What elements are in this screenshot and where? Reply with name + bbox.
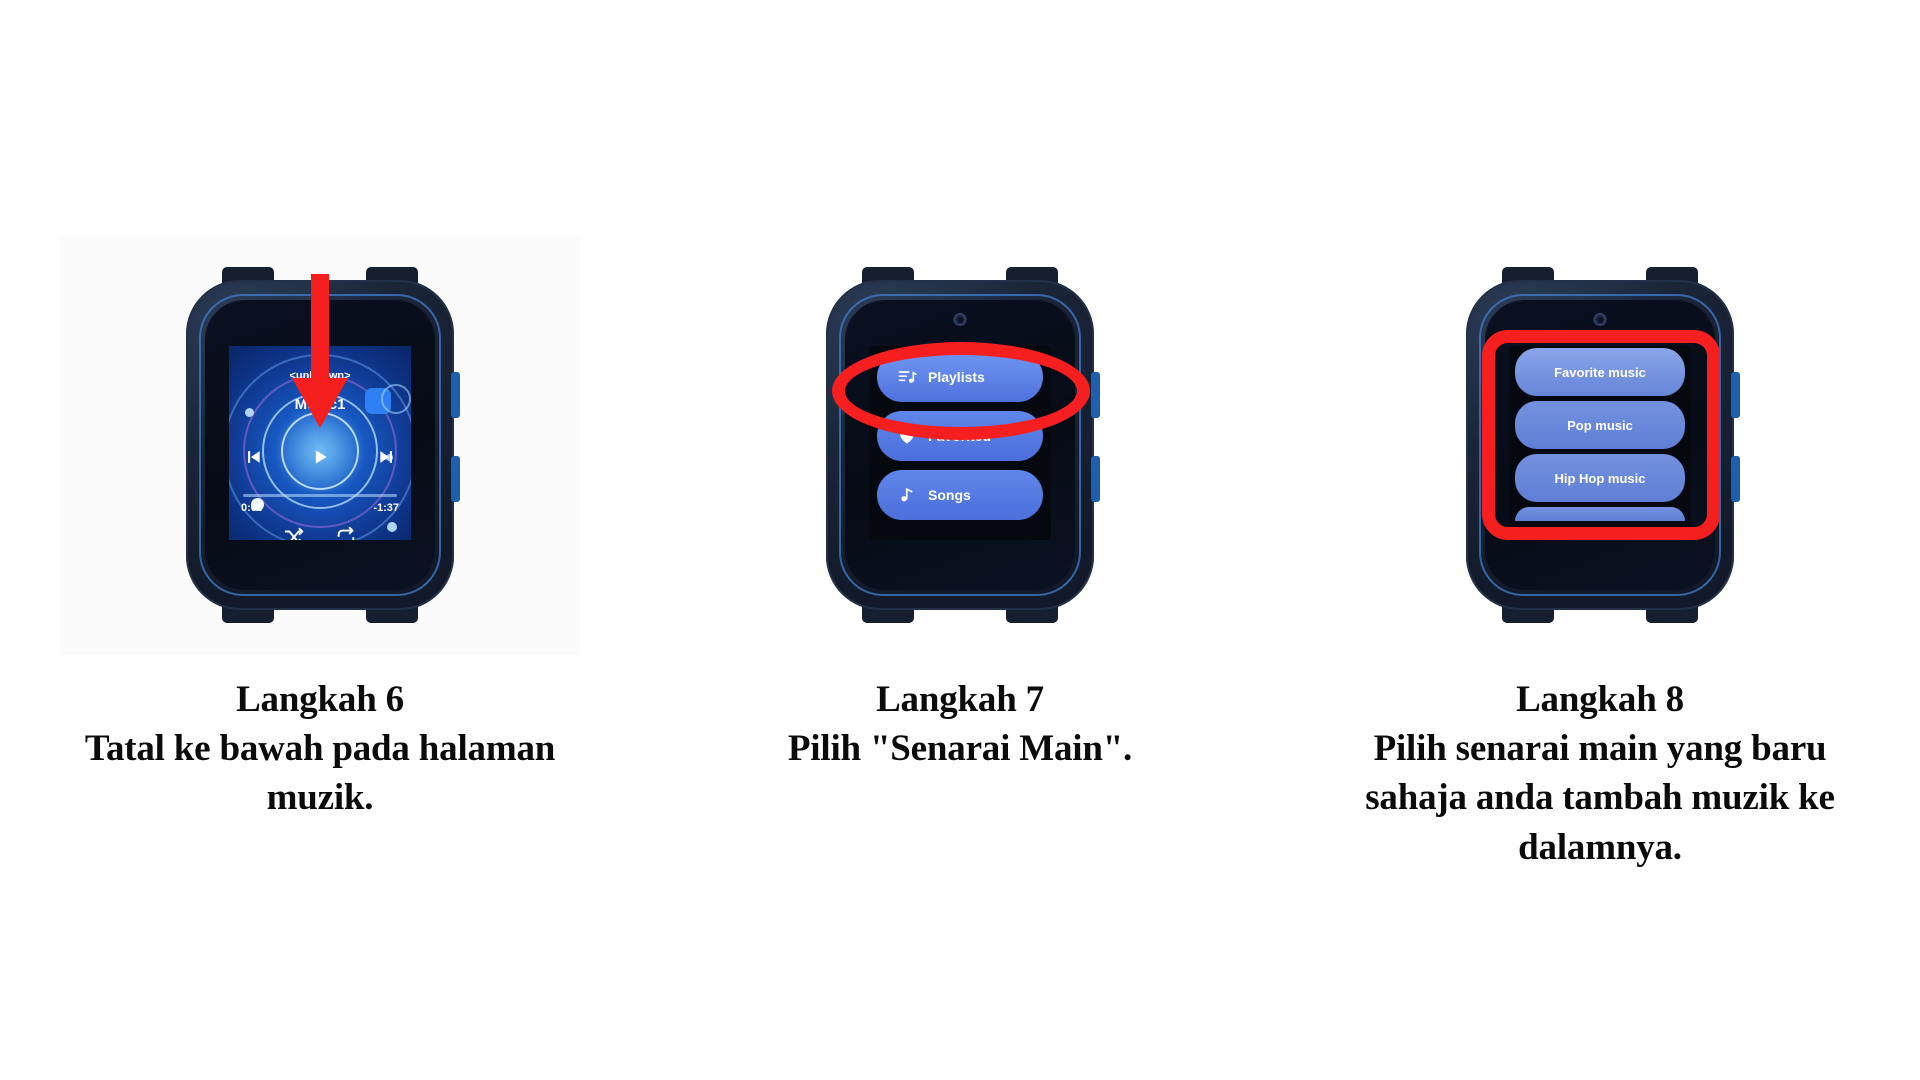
step-card-6: 2 <unknown> Music1 [0,0,640,823]
heart-icon [897,426,917,446]
step-caption-8: Langkah 8 Pilih senarai main yang baru s… [1365,675,1835,872]
remaining-time: -1:37 [373,502,399,514]
scroll-down-arrow-icon [288,274,352,432]
playlist-music-icon [897,367,917,387]
menu-item-playlists[interactable]: Playlists [877,352,1043,402]
playlist-item-favorite-music[interactable]: Favorite music [1515,348,1685,396]
watch-glass: Playlists Favorited [845,300,1075,590]
step-card-7: Playlists Favorited [640,0,1280,773]
watch-side-button-bottom[interactable] [1091,456,1100,502]
playback-mode-controls [229,526,411,540]
watch-photo-3: Favorite music Pop music Hip Hop music [1340,235,1860,655]
watch-screen-3: Favorite music Pop music Hip Hop music [1509,346,1691,540]
transport-controls [229,442,411,472]
watch-photo-2: Playlists Favorited [700,235,1220,655]
menu-item-favorited[interactable]: Favorited [877,411,1043,461]
menu-item-label: Favorited [928,428,991,444]
next-track-icon[interactable] [377,447,397,467]
watch-side-button-top[interactable] [1091,372,1100,418]
step-caption-6: Langkah 6 Tatal ke bawah pada halaman mu… [40,675,600,823]
step-body: Pilih senarai main yang baru sahaja anda… [1365,724,1835,872]
step-body: Tatal ke bawah pada halaman muzik. [40,724,600,822]
watch-glass: Favorite music Pop music Hip Hop music [1485,300,1715,590]
playlist-item-partial[interactable] [1515,507,1685,521]
playlist-list-screen: Favorite music Pop music Hip Hop music [1509,346,1691,540]
camera-icon [954,313,967,326]
watch-case: Playlists Favorited [826,280,1094,610]
music-note-icon [897,485,917,505]
seek-bar[interactable] [243,494,397,497]
step-title: Langkah 8 [1365,675,1835,724]
step-caption-7: Langkah 7 Pilih "Senarai Main". [680,675,1240,773]
playlist-item-pop-music[interactable]: Pop music [1515,401,1685,449]
shuffle-icon[interactable] [283,526,305,540]
playlist-item-label: Favorite music [1554,365,1646,380]
step-title: Langkah 7 [680,675,1240,724]
playlist-item-hip-hop-music[interactable]: Hip Hop music [1515,454,1685,502]
elapsed-time: 0:00 [241,502,263,514]
watch-side-button-bottom[interactable] [451,456,460,502]
menu-item-songs[interactable]: Songs [877,470,1043,520]
watch-photo-1: 2 <unknown> Music1 [60,235,580,655]
playlist-item-label: Pop music [1567,418,1633,433]
time-labels: 0:00 -1:37 [241,502,399,514]
camera-icon [1594,313,1607,326]
watch-side-button-top[interactable] [451,372,460,418]
watch-side-button-bottom[interactable] [1731,456,1740,502]
steps-container: 2 <unknown> Music1 [0,0,1920,1080]
step-card-8: Favorite music Pop music Hip Hop music [1280,0,1920,872]
play-icon[interactable] [310,447,330,467]
watch-side-button-top[interactable] [1731,372,1740,418]
playlist-item-label: Hip Hop music [1554,471,1645,486]
previous-track-icon[interactable] [243,447,263,467]
smartwatch-device-2: Playlists Favorited [826,280,1094,610]
smartwatch-device-3: Favorite music Pop music Hip Hop music [1466,280,1734,610]
watch-screen-2: Playlists Favorited [869,346,1051,540]
menu-item-label: Playlists [928,369,985,385]
step-title: Langkah 6 [40,675,600,724]
smartwatch-device-1: 2 <unknown> Music1 [186,280,454,610]
menu-item-label: Songs [928,487,971,503]
music-menu-screen: Playlists Favorited [869,346,1051,540]
watch-case: Favorite music Pop music Hip Hop music [1466,280,1734,610]
step-body: Pilih "Senarai Main". [680,724,1240,773]
repeat-icon[interactable] [335,526,357,540]
